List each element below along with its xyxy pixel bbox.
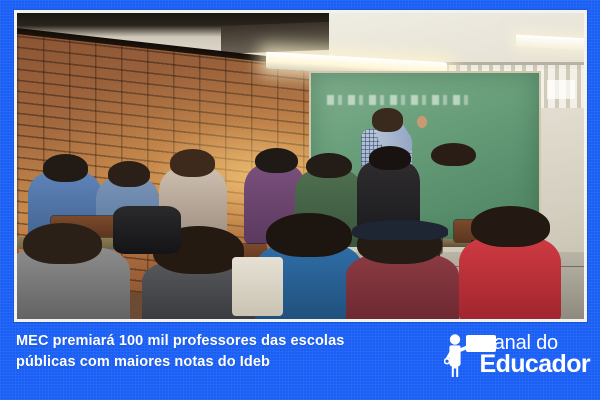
teacher-pointer-icon (444, 332, 478, 378)
caption: MEC premiará 100 mil professores das esc… (16, 331, 376, 373)
chalkboard-writing (327, 95, 469, 105)
teacher-hand (417, 116, 427, 127)
brand-wordmark: Canal do Educador (480, 333, 591, 377)
whiteboard-shape (466, 335, 496, 352)
classroom-photo (17, 13, 584, 319)
teacher-head (372, 108, 403, 132)
caption-line-2: públicas com maiores notas do Ideb (16, 352, 376, 373)
student-head (108, 161, 151, 187)
student-cap (352, 220, 448, 241)
student-head (23, 223, 102, 264)
news-card: MEC premiará 100 mil professores das esc… (0, 0, 600, 400)
student-head (255, 148, 298, 174)
student-body (459, 237, 561, 319)
caption-line-1: MEC premiará 100 mil professores das esc… (16, 331, 376, 352)
brand-logo[interactable]: Canal do Educador (444, 330, 591, 380)
photo-frame (14, 10, 587, 322)
student-head (170, 149, 215, 176)
tote-bag (232, 257, 283, 315)
student-crowd (17, 148, 584, 319)
wall-note (547, 80, 575, 98)
student-head (431, 143, 476, 167)
student-head (306, 153, 351, 179)
brand-line-2: Educador (480, 352, 591, 377)
student-head (43, 154, 88, 181)
backpack (113, 206, 181, 254)
student-head (369, 146, 412, 170)
student-head (471, 206, 550, 247)
student-head (266, 213, 351, 258)
